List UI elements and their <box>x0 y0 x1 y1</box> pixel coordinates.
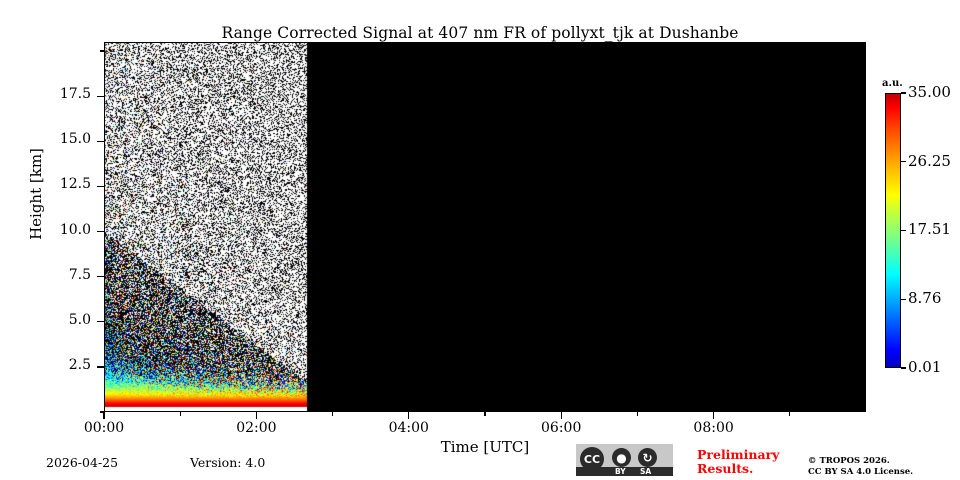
colorbar-tick-label: 35.00 <box>908 83 951 101</box>
copyright-line-1: © TROPOS 2026. <box>808 456 913 467</box>
y-tick-minor <box>100 50 104 51</box>
figure-date: 2026-04-25 <box>46 455 118 470</box>
y-tick-major <box>97 186 104 187</box>
preliminary-results-notice: Preliminary Results. <box>697 448 797 476</box>
x-tick-minor <box>484 412 485 416</box>
colorbar-tick-label: 26.25 <box>908 152 951 170</box>
y-tick-major <box>97 96 104 97</box>
x-tick-label: 02:00 <box>211 420 301 436</box>
x-tick-major <box>561 412 562 419</box>
cc-license-badge[interactable]: CC ● ↻ BY SA <box>576 444 673 476</box>
cc-sharealike-icon: ↻ <box>638 448 657 467</box>
y-tick-label: 7.5 <box>13 267 91 283</box>
x-tick-major <box>103 412 104 419</box>
colorbar-tick <box>901 367 906 368</box>
colorbar-tick-label: 8.76 <box>908 289 941 307</box>
colorbar-tick <box>901 161 906 162</box>
cc-by-person-icon: ● <box>612 448 631 467</box>
colorbar[interactable] <box>885 93 901 368</box>
cc-by-label: BY <box>615 467 626 476</box>
colorbar-tick <box>901 92 906 93</box>
x-tick-major <box>408 412 409 419</box>
x-tick-minor <box>332 412 333 416</box>
colorbar-tick <box>901 299 906 300</box>
heatmap-data-canvas <box>104 42 866 412</box>
figure-version: Version: 4.0 <box>190 455 265 470</box>
y-tick-major <box>97 141 104 142</box>
y-tick-major <box>97 231 104 232</box>
y-tick-label: 5.0 <box>13 312 91 328</box>
y-tick-label: 15.0 <box>13 131 91 147</box>
x-tick-minor <box>789 412 790 416</box>
page-title: Range Corrected Signal at 407 nm FR of p… <box>0 24 960 42</box>
y-tick-major <box>97 276 104 277</box>
y-tick-label: 12.5 <box>13 176 91 192</box>
figure-canvas: Range Corrected Signal at 407 nm FR of p… <box>0 0 960 480</box>
preliminary-line-1: Preliminary <box>697 448 797 462</box>
colorbar-unit-label: a.u. <box>882 78 903 89</box>
y-tick-major <box>97 366 104 367</box>
colorbar-tick <box>901 230 906 231</box>
y-tick-label: 17.5 <box>13 86 91 102</box>
x-tick-label: 04:00 <box>364 420 454 436</box>
x-tick-label: 00:00 <box>59 420 149 436</box>
x-tick-minor <box>637 412 638 416</box>
y-tick-label: 10.0 <box>13 222 91 238</box>
x-tick-minor <box>180 412 181 416</box>
x-tick-label: 08:00 <box>669 420 759 436</box>
heatmap-plot-area[interactable] <box>104 42 866 412</box>
copyright-line-2: CC BY SA 4.0 License. <box>808 467 913 478</box>
preliminary-line-2: Results. <box>697 462 797 476</box>
y-tick-minor <box>100 411 104 412</box>
y-tick-major <box>97 321 104 322</box>
cc-sa-label: SA <box>640 467 651 476</box>
cc-icon: CC <box>580 447 604 471</box>
colorbar-tick-label: 0.01 <box>908 358 941 376</box>
copyright-notice: © TROPOS 2026. CC BY SA 4.0 License. <box>808 456 913 478</box>
colorbar-tick-label: 17.51 <box>908 220 951 238</box>
x-tick-major <box>256 412 257 419</box>
y-tick-label: 2.5 <box>13 357 91 373</box>
x-tick-major <box>713 412 714 419</box>
x-tick-label: 06:00 <box>516 420 606 436</box>
y-axis-title: Height [km] <box>27 114 45 274</box>
